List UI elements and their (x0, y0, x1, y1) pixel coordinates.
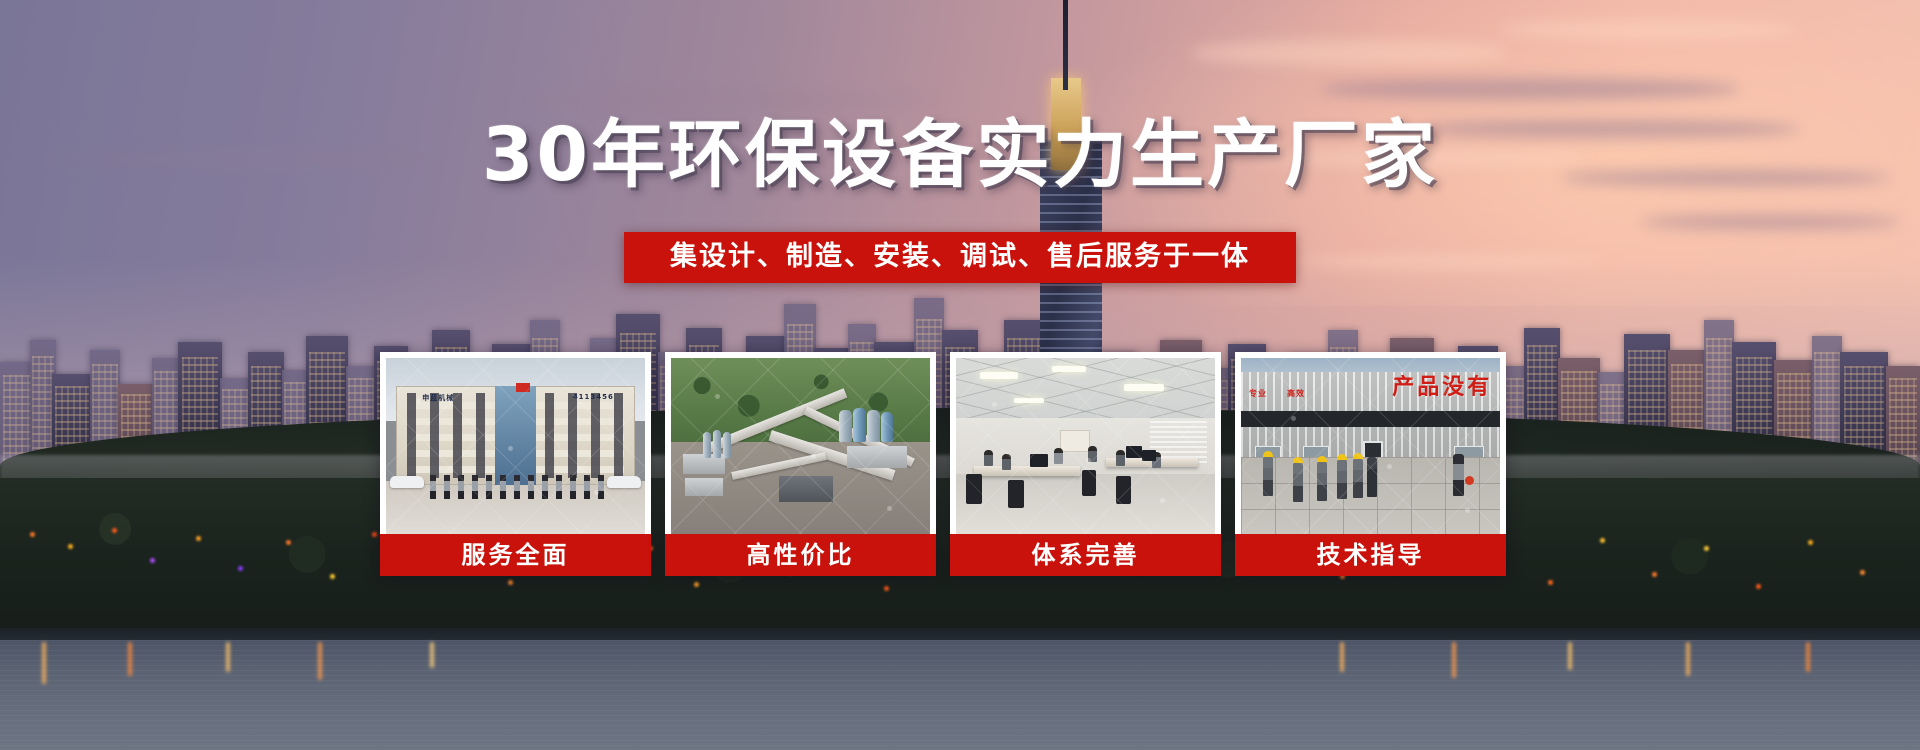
feature-card[interactable]: 高性价比 (665, 352, 936, 576)
card-label: 技术指导 (1235, 534, 1506, 576)
photo-wall-slogan: 产品没有 (1392, 369, 1492, 401)
banner-headline: 30年环保设备实力生产厂家 (0, 118, 1920, 192)
feature-card[interactable]: 产品没有 专业 高效 (1235, 352, 1506, 576)
feature-card[interactable]: 申蓝机械 4113456 服务全面 (380, 352, 651, 576)
tower-spire (1063, 0, 1068, 90)
cloud (1640, 215, 1900, 229)
promo-banner: 30年环保设备实力生产厂家 集设计、制造、安装、调试、售后服务于一体 申蓝机械 … (0, 0, 1920, 750)
card-label: 高性价比 (665, 534, 936, 576)
photo-phone-text: 4113456 (573, 393, 614, 401)
card-label: 体系完善 (950, 534, 1221, 576)
card-photo-industrial-plant (671, 358, 930, 534)
card-label: 服务全面 (380, 534, 651, 576)
banner-subtitle-bar: 集设计、制造、安装、调试、售后服务于一体 (624, 232, 1296, 283)
photo-sign-text: 申蓝机械 (422, 393, 454, 403)
cloud (520, 90, 940, 110)
photo-wall-slogan-small: 专业 (1249, 388, 1267, 399)
cloud (1500, 20, 1800, 40)
card-photo-office-interior (956, 358, 1215, 534)
card-photo-factory-workers: 产品没有 专业 高效 (1241, 358, 1500, 534)
photo-wall-slogan-small: 高效 (1287, 388, 1305, 399)
cloud (1320, 78, 1740, 100)
feature-card-row: 申蓝机械 4113456 服务全面 (380, 352, 1506, 576)
card-photo-headquarters: 申蓝机械 4113456 (386, 358, 645, 534)
feature-card[interactable]: 体系完善 (950, 352, 1221, 576)
cloud (1190, 40, 1510, 66)
river-water (0, 640, 1920, 750)
